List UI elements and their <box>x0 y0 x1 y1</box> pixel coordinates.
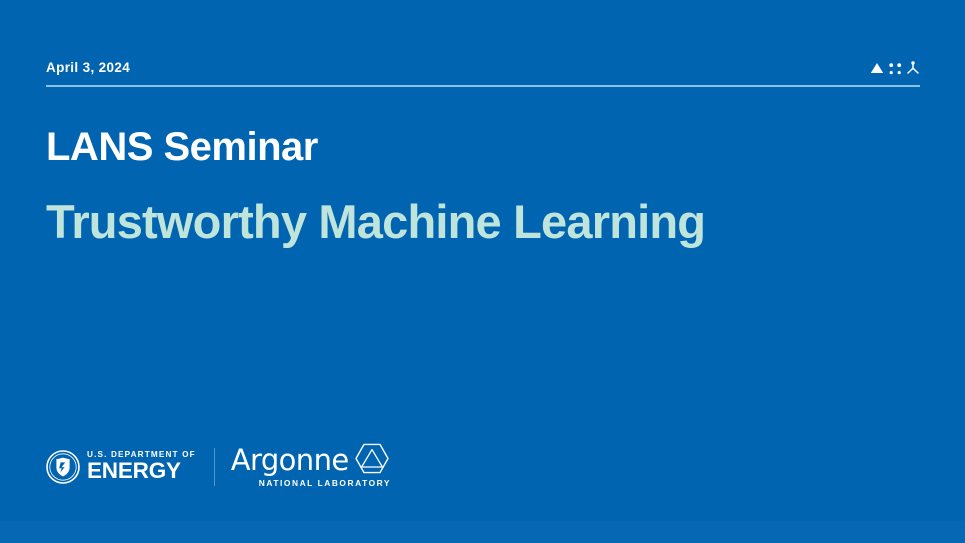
doe-logo: U.S. DEPARTMENT OF ENERGY <box>46 447 196 487</box>
molecule-icon <box>906 61 920 79</box>
argonne-wordmark-row: Argonne <box>231 446 391 475</box>
argonne-tagline: NATIONAL LABORATORY <box>259 478 391 488</box>
footer-logo-row: U.S. DEPARTMENT OF ENERGY Argonne NATION… <box>46 443 391 491</box>
mountain-icon <box>870 61 884 79</box>
argonne-hexagon-icon <box>355 443 389 474</box>
slide-header: April 3, 2024 <box>46 60 920 90</box>
page-subtitle: Trustworthy Machine Learning <box>46 170 926 249</box>
bottom-band <box>0 521 965 543</box>
slide-date: April 3, 2024 <box>46 60 130 75</box>
slide-title-block: LANS Seminar Trustworthy Machine Learnin… <box>46 124 926 249</box>
doe-seal-icon <box>46 450 80 484</box>
dots-icon <box>889 62 902 80</box>
argonne-word: Argonne <box>231 446 349 475</box>
doe-energy-word: ENERGY <box>87 460 196 483</box>
page-title: LANS Seminar <box>46 124 926 170</box>
presentation-slide: April 3, 2024 <box>0 0 965 543</box>
argonne-logo: Argonne NATIONAL LABORATORY <box>231 444 391 490</box>
doe-wordmark: U.S. DEPARTMENT OF ENERGY <box>87 451 196 483</box>
header-brand-marks <box>870 61 920 81</box>
logo-divider <box>214 448 215 486</box>
header-divider <box>46 85 920 87</box>
